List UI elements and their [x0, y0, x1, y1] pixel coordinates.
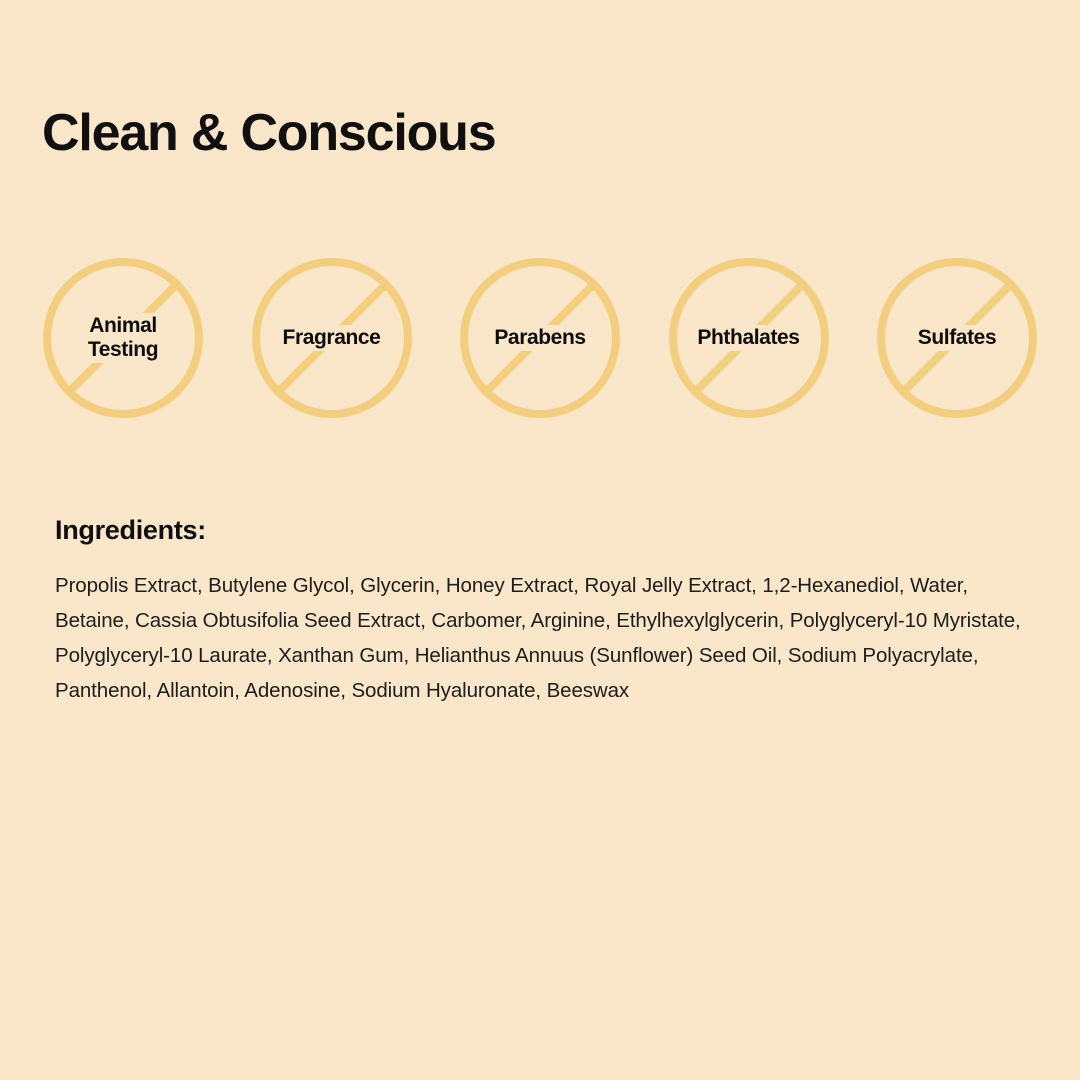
ingredients-heading: Ingredients:	[55, 515, 206, 546]
free-from-badge-sulfates: Sulfates	[876, 257, 1038, 419]
ingredients-list-text: Propolis Extract, Butylene Glycol, Glyce…	[55, 568, 1027, 708]
free-from-badge-parabens: Parabens	[459, 257, 621, 419]
free-from-badge-phthalates: Phthalates	[668, 257, 830, 419]
clean-conscious-panel: Clean & Conscious Animal Testing Fragran…	[0, 0, 1080, 1080]
free-from-badge-label: Sulfates	[915, 325, 1000, 351]
page-title: Clean & Conscious	[42, 104, 495, 164]
free-from-badge-label: Parabens	[491, 325, 588, 351]
free-from-badge-row: Animal Testing Fragrance Parabens Phthal…	[42, 252, 1038, 424]
free-from-badge-animal-testing: Animal Testing	[42, 257, 204, 419]
free-from-badge-fragrance: Fragrance	[251, 257, 413, 419]
free-from-badge-label: Fragrance	[280, 325, 384, 351]
free-from-badge-label: Animal Testing	[63, 313, 183, 362]
free-from-badge-label: Phthalates	[694, 325, 802, 351]
